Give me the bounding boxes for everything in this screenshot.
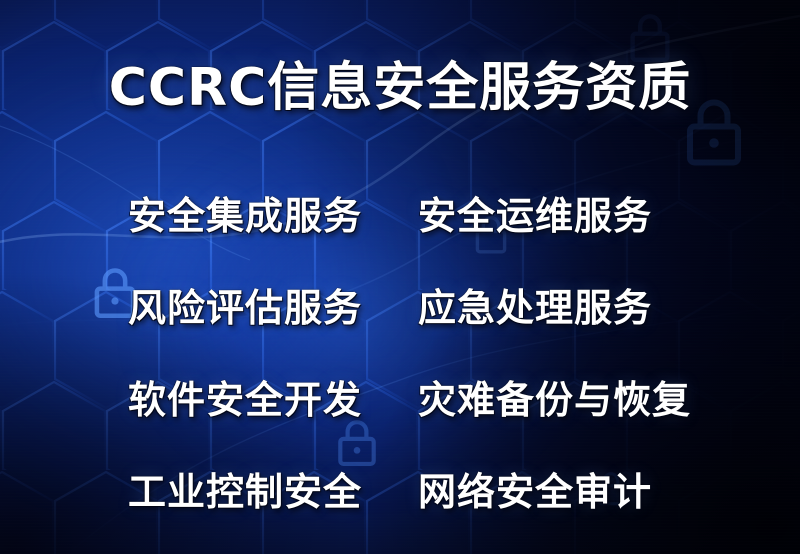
service-item-disaster-recovery: 灾难备份与恢复 <box>386 381 714 419</box>
service-item-security-operations: 安全运维服务 <box>386 197 714 235</box>
service-item-emergency-response: 应急处理服务 <box>386 289 714 327</box>
page-title: CCRC信息安全服务资质 <box>0 60 800 116</box>
service-item-risk-assessment: 风险评估服务 <box>86 289 386 327</box>
service-item-network-security-audit: 网络安全审计 <box>386 473 714 511</box>
poster-root: CCRC信息安全服务资质 安全集成服务 安全运维服务 风险评估服务 应急处理服务… <box>0 0 800 554</box>
service-item-industrial-control: 工业控制安全 <box>86 473 386 511</box>
poster-content: CCRC信息安全服务资质 安全集成服务 安全运维服务 风险评估服务 应急处理服务… <box>0 0 800 554</box>
service-item-security-integration: 安全集成服务 <box>86 197 386 235</box>
service-item-software-security-dev: 软件安全开发 <box>86 381 386 419</box>
service-grid: 安全集成服务 安全运维服务 风险评估服务 应急处理服务 软件安全开发 灾难备份与… <box>86 170 714 538</box>
